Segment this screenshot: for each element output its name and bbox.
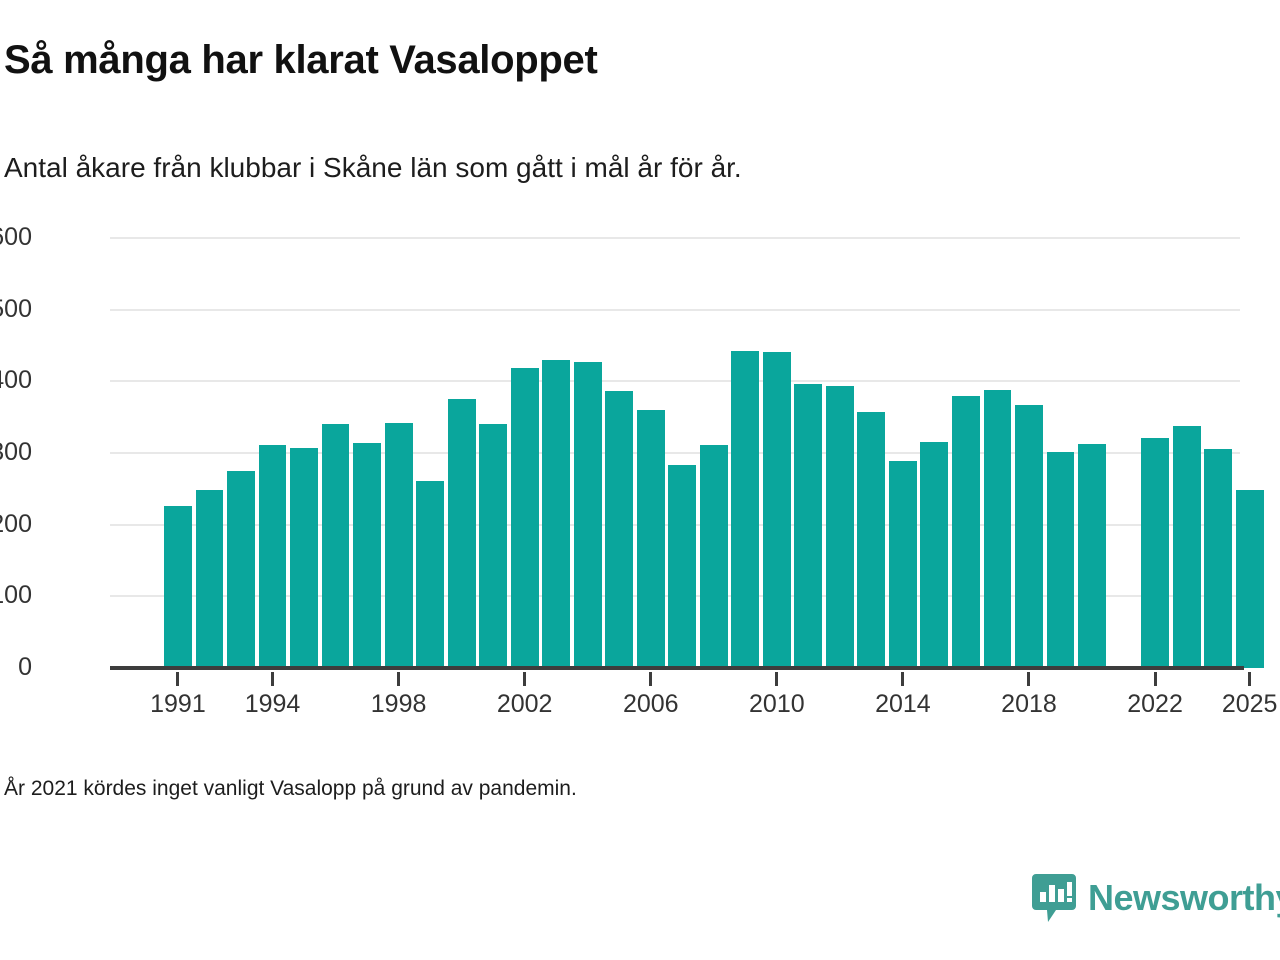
bar[interactable] — [511, 368, 539, 668]
x-axis-tick — [523, 672, 526, 686]
bar[interactable] — [984, 390, 1012, 668]
x-axis-tick — [649, 672, 652, 686]
bar[interactable] — [1047, 452, 1075, 668]
x-axis-tick-label: 2025 — [1222, 690, 1278, 719]
bar[interactable] — [605, 391, 633, 668]
bar[interactable] — [448, 399, 476, 668]
bar[interactable] — [857, 412, 885, 668]
x-axis-tick — [775, 672, 778, 686]
x-axis-tick — [1027, 672, 1030, 686]
y-axis-tick-label: 300 — [0, 440, 32, 465]
bar[interactable] — [164, 506, 192, 668]
bar[interactable] — [920, 442, 948, 668]
bar[interactable] — [322, 424, 350, 668]
x-axis-tick-label: 2022 — [1127, 690, 1183, 719]
bar[interactable] — [952, 396, 980, 668]
y-gridline — [110, 380, 1240, 382]
bar-chart-speech-bubble-icon — [1032, 872, 1076, 924]
chart-footnote: År 2021 kördes inget vanligt Vasalopp på… — [4, 777, 577, 801]
y-axis-tick-label: 0 — [0, 655, 32, 680]
chart-page: Så många har klarat Vasaloppet Antal åka… — [0, 0, 1280, 960]
x-axis-tick-label: 1994 — [245, 690, 301, 719]
y-axis-tick-label: 600 — [0, 225, 32, 250]
x-axis-tick — [1248, 672, 1251, 686]
x-axis-line — [110, 666, 1244, 670]
bar[interactable] — [196, 490, 224, 668]
y-axis-tick-label: 100 — [0, 583, 32, 608]
x-axis-tick-label: 1991 — [150, 690, 206, 719]
bar[interactable] — [227, 471, 255, 668]
x-axis-tick — [901, 672, 904, 686]
bar[interactable] — [637, 410, 665, 668]
x-axis-tick-label: 2010 — [749, 690, 805, 719]
bar[interactable] — [1078, 444, 1106, 668]
y-gridline — [110, 237, 1240, 239]
newsworthy-wordmark: Newsworthy — [1088, 880, 1280, 916]
x-axis-tick — [397, 672, 400, 686]
bar[interactable] — [668, 465, 696, 668]
bar[interactable] — [889, 461, 917, 668]
x-axis-tick-label: 2002 — [497, 690, 553, 719]
x-axis-tick-label: 2014 — [875, 690, 931, 719]
plot-area: 0100200300400500600 — [110, 238, 1240, 668]
y-axis-tick-label: 200 — [0, 512, 32, 537]
bar[interactable] — [763, 352, 791, 668]
bar[interactable] — [385, 423, 413, 668]
x-axis-tick-label: 2018 — [1001, 690, 1057, 719]
bar[interactable] — [259, 445, 287, 668]
y-axis-tick-label: 400 — [0, 368, 32, 393]
bar[interactable] — [826, 386, 854, 668]
bar[interactable] — [1173, 426, 1201, 668]
x-axis-tick — [271, 672, 274, 686]
x-axis-tick-label: 1998 — [371, 690, 427, 719]
bar[interactable] — [1015, 405, 1043, 668]
bar[interactable] — [574, 362, 602, 668]
bar[interactable] — [353, 443, 381, 668]
bar[interactable] — [1204, 449, 1232, 668]
newsworthy-logo: Newsworthy — [1032, 872, 1280, 924]
x-axis-tick — [176, 672, 179, 686]
x-axis-tick-label: 2006 — [623, 690, 679, 719]
bar[interactable] — [700, 445, 728, 668]
y-axis-tick-label: 500 — [0, 297, 32, 322]
y-gridline — [110, 309, 1240, 311]
bar[interactable] — [416, 481, 444, 668]
bar-chart: 0100200300400500600 19911994199820022006… — [0, 0, 1280, 960]
bar[interactable] — [794, 384, 822, 668]
bar[interactable] — [479, 424, 507, 668]
bar[interactable] — [1141, 438, 1169, 668]
bar[interactable] — [290, 448, 318, 668]
x-axis-tick — [1154, 672, 1157, 686]
bar[interactable] — [1236, 490, 1264, 668]
bar[interactable] — [731, 351, 759, 668]
bar[interactable] — [542, 360, 570, 668]
